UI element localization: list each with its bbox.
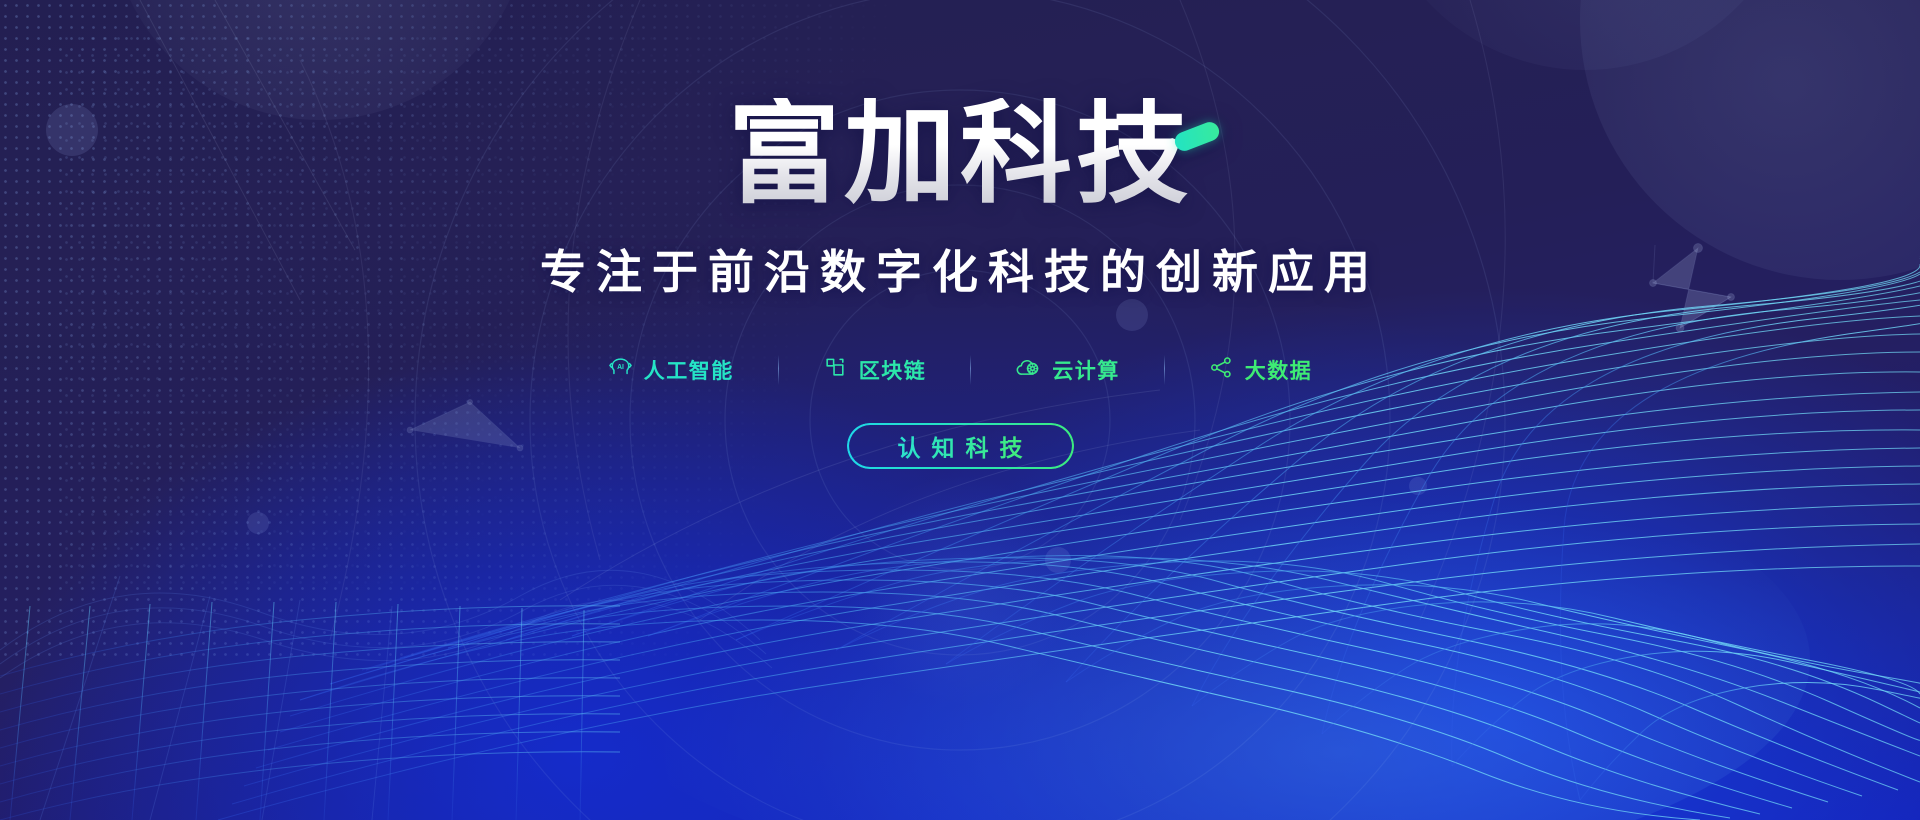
feature-label: 大数据 <box>1245 355 1313 385</box>
share-nodes-icon <box>1209 355 1234 385</box>
blockchain-blocks-icon <box>823 355 848 385</box>
cta-button-label: 认知科技 <box>887 429 1034 463</box>
feature-label: 云计算 <box>1052 355 1120 385</box>
feature-item-ai[interactable]: AI 人工智能 <box>564 355 778 385</box>
cloud-gear-icon <box>1015 354 1041 385</box>
svg-text:AI: AI <box>617 363 624 370</box>
hero-content: 富加科技 专注于前沿数字化科技的创新应用 AI 人工智能 <box>0 0 1920 820</box>
feature-item-bigdata[interactable]: 大数据 <box>1165 355 1357 385</box>
ai-brain-icon: AI <box>608 355 633 385</box>
feature-label: 区块链 <box>859 355 927 385</box>
feature-label: 人工智能 <box>644 355 734 385</box>
page-title: 富加科技 <box>728 98 1192 210</box>
feature-item-blockchain[interactable]: 区块链 <box>779 355 971 385</box>
page-subtitle: 专注于前沿数字化科技的创新应用 <box>540 236 1380 302</box>
feature-tag-list: AI 人工智能 区块链 <box>564 354 1357 385</box>
feature-item-cloud[interactable]: 云计算 <box>971 354 1164 385</box>
cognitive-tech-button[interactable]: 认知科技 <box>847 423 1074 469</box>
brand-title-text: 富加科技 <box>728 91 1192 216</box>
cta-container: 认知科技 <box>847 423 1074 469</box>
hero-banner: 富加科技 专注于前沿数字化科技的创新应用 AI 人工智能 <box>0 0 1920 820</box>
